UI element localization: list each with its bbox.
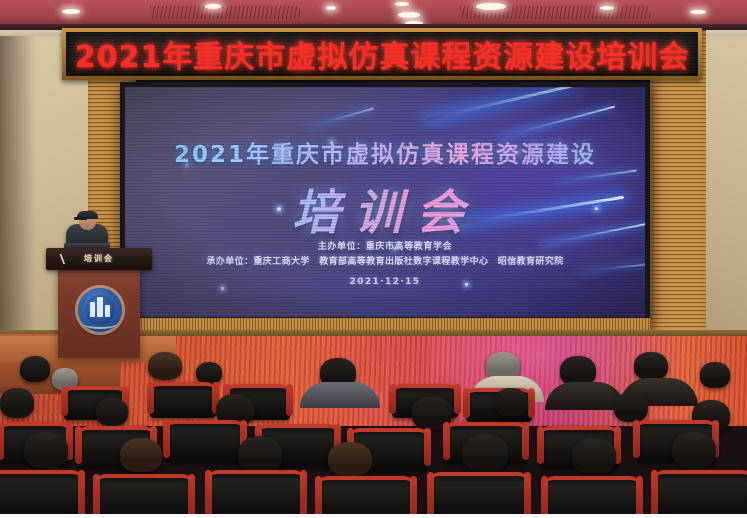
audience-head [148,352,182,380]
audience-seat [430,472,528,518]
wall-shadow [0,36,36,366]
audience-seat [318,476,414,518]
overhead-led-banner: 2021年重庆市虚拟仿真课程资源建设培训会 [62,28,702,80]
audience-head [328,442,372,476]
audience-area [0,352,747,514]
banner-screen: 2021年重庆市虚拟仿真课程资源建设培训会 [66,32,698,76]
image-bottom-border [0,514,747,518]
audience-head [462,434,508,472]
ceiling-light [326,6,336,10]
meteor-streak [499,106,615,139]
ceiling-light [62,9,80,14]
conference-hall-photo: 2021年重庆市虚拟仿真课程资源建设培训会 2021年重庆市虚拟仿真课程资源建设… [0,0,747,518]
emblem-tower [90,302,95,317]
speaker-cap-brim [74,217,87,220]
screen-date-text: 2021·12·15 [125,277,645,287]
audience-seat [544,476,640,518]
emblem-arc-text [82,317,118,329]
audience-head [238,436,282,472]
ceiling-light [205,4,221,9]
audience-seat [166,420,244,462]
podium-label-text: 培训会 [46,253,152,264]
audience-head [0,388,34,418]
audience-head [196,362,222,384]
audience-head [614,392,648,422]
audience-seat [0,470,82,518]
audience-head [700,362,730,388]
ceiling-light [398,12,420,18]
wood-slat-panel-right [650,30,706,366]
audience-seat [654,470,747,518]
emblem-tower [97,297,103,317]
audience-seat [150,382,216,418]
main-led-screen: 2021年重庆市虚拟仿真课程资源建设 培训会 主办单位：重庆市高等教育学会 承办… [120,82,650,322]
audience-head [572,438,616,474]
university-emblem [78,288,122,332]
wall-right [700,36,747,366]
screen-brush-title: 培训会 [125,173,645,243]
ceiling-light [690,10,706,14]
screen-main-title: 2021年重庆市虚拟仿真课程资源建设 [125,135,645,169]
ceiling-light [395,2,409,6]
audience-head [24,432,68,468]
emblem-tower [105,305,110,317]
audience-seat [96,474,192,518]
meteor-streak [306,107,374,128]
screen-co-organizer-line: 承办单位：重庆工商大学 教育部高等教育出版社数字课程教学中心 昭信教育研究院 [125,254,645,267]
audience-head [20,356,50,382]
meteor-streak [427,87,574,121]
audience-seat [208,470,304,518]
ceiling-acoustic-panel-left [150,6,300,19]
ceiling-light [476,3,506,10]
star-particle [221,287,224,290]
led-screen-surface: 2021年重庆市虚拟仿真课程资源建设 培训会 主办单位：重庆市高等教育学会 承办… [125,87,645,317]
screen-organizer-line: 主办单位：重庆市高等教育学会 [125,239,645,252]
audience-shoulders [300,382,380,408]
audience-head [672,432,716,468]
podium-top-panel: 培训会 [46,248,152,270]
audience-head [494,388,528,416]
audience-head [634,352,668,380]
audience-head [96,398,128,426]
banner-title-text: 2021年重庆市虚拟仿真课程资源建设培训会 [75,32,690,76]
audience-head [120,438,162,472]
ceiling-light [600,6,614,10]
audience-shoulders [545,382,625,410]
